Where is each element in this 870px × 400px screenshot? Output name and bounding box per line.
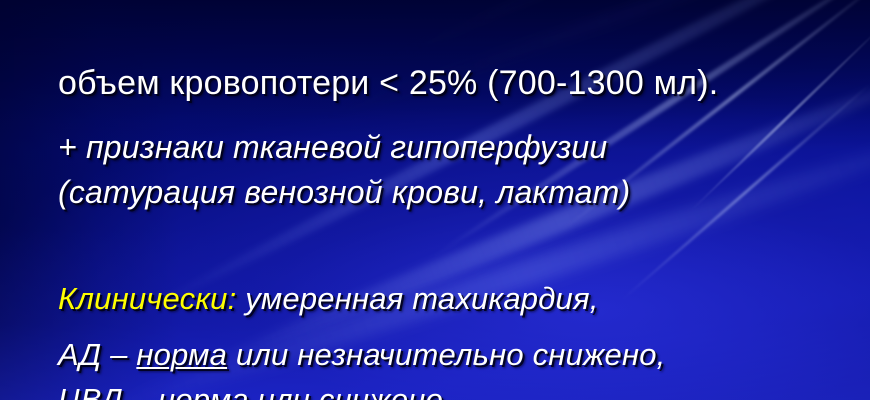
hypoperfusion-signs-line: + признаки тканевой гипоперфузии	[58, 129, 607, 166]
central-venous-pressure-line: ЦВД – норма или снижено	[58, 382, 443, 400]
bp-normal-underlined: норма	[136, 337, 227, 372]
slide-text-content: объем кровопотери < 25% (700-1300 мл). +…	[0, 0, 870, 400]
clinical-label: Клинически:	[58, 281, 236, 316]
bp-suffix: или незначительно снижено,	[227, 337, 665, 372]
bp-prefix: АД –	[58, 337, 136, 372]
tachycardia-text: умеренная тахикардия,	[236, 281, 598, 316]
clinical-tachycardia-line: Клинически: умеренная тахикардия,	[58, 281, 599, 317]
cvp-normal-underlined: норма	[158, 382, 249, 400]
blood-loss-volume-line: объем кровопотери < 25% (700-1300 мл).	[58, 64, 718, 103]
venous-saturation-lactate-line: (сатурация венозной крови, лактат)	[58, 174, 630, 211]
presentation-slide: объем кровопотери < 25% (700-1300 мл). +…	[0, 0, 870, 400]
cvp-prefix: ЦВД –	[58, 382, 158, 400]
cvp-suffix: или снижено	[249, 382, 443, 400]
blood-pressure-line: АД – норма или незначительно снижено,	[58, 337, 666, 373]
